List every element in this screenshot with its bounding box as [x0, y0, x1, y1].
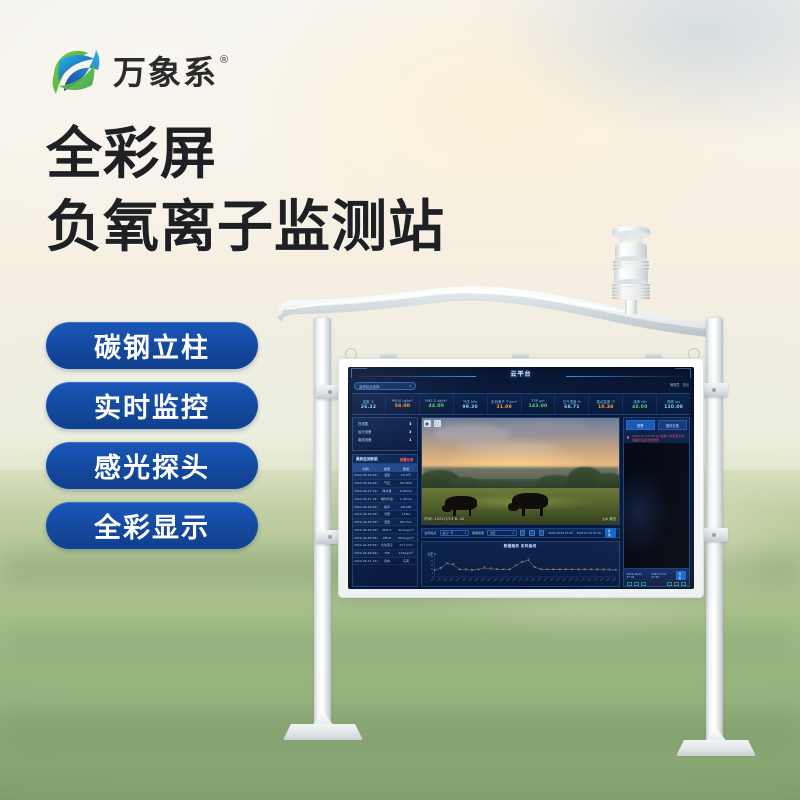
table-row[interactable]: 2022-04-28 08:03:18PM1058.0ug/m³ — [353, 534, 417, 542]
display-cabinet: 云平台 监测站点选择 ▾ 管理员 退出 温度 ℃ 26.32 — [338, 358, 704, 598]
station-select-value: 监测站点选择 — [359, 384, 379, 389]
stat-label: 在线数 — [358, 421, 368, 426]
table-cell: 2022-04-28 08:03:42 — [353, 542, 378, 549]
video-cow-leg — [540, 508, 543, 515]
control-icon-group: 2022-08-02 07:30 2022-07-01 07:30 查询 — [520, 528, 616, 538]
svg-text:9.0: 9.0 — [458, 568, 461, 570]
chart-controls[interactable]: 监测站点 站点一号 ▾ 数据类型 温度 ▾ — [421, 528, 620, 538]
svg-text:12:00: 12:00 — [505, 578, 510, 581]
svg-text:21:00: 21:00 — [562, 578, 567, 581]
chart-title: 数据趋势 实时曲线 — [422, 544, 619, 549]
svg-text:18:00: 18:00 — [543, 578, 548, 581]
log-time-end: 2022-07-01 07:30 — [651, 573, 673, 579]
fullscreen-icon[interactable]: ⛶ — [434, 420, 441, 427]
column-header-time: 时间 — [353, 464, 378, 472]
svg-text:15.2: 15.2 — [451, 563, 454, 565]
table-row[interactable]: 2022-04-28 08:03:18湿度68.71% — [353, 519, 417, 527]
carbon-steel-post-left — [314, 318, 331, 726]
svg-text:00:00: 00:00 — [430, 578, 435, 581]
chevron-down-icon: ▾ — [465, 532, 466, 535]
dashboard-screen[interactable]: 云平台 监测站点选择 ▾ 管理员 退出 温度 ℃ 26.32 — [348, 367, 694, 589]
metric-value: 10.38 — [598, 405, 614, 410]
metric-label: 风照 lux — [667, 399, 680, 404]
table-cell: 2022-04-28 08:03:18 — [353, 550, 378, 557]
svg-text:08:00: 08:00 — [480, 578, 485, 581]
time-range-start: 2022-08-02 07:30 — [548, 531, 572, 535]
column-header-type: 类型 — [378, 464, 395, 472]
table-row[interactable]: 2022-04-27 18:32:15瞬时风速1.05m/s — [353, 495, 417, 503]
tab-alarm[interactable]: 报警 — [626, 420, 655, 430]
feature-badge-full-color-display[interactable]: 全彩显示 — [46, 502, 258, 549]
metric-humidity: 空气湿度 % 68.71 — [555, 394, 589, 414]
table-cell: 湿度 — [378, 519, 395, 526]
table-title: 最新监测数据 — [356, 457, 378, 462]
table-cell: 143ug/m³ — [396, 550, 417, 557]
svg-text:07:00: 07:00 — [474, 578, 479, 581]
metric-value: 99.30 — [462, 405, 478, 410]
table-cell: 2022-04-28 08:03:18 — [353, 480, 378, 487]
svg-text:23:00: 23:00 — [574, 578, 579, 581]
table-row[interactable]: 2022-04-28 08:03:18温度23.8℃ — [353, 472, 417, 480]
svg-text:0: 0 — [431, 577, 432, 579]
svg-text:17:00: 17:00 — [537, 578, 542, 581]
svg-text:9.6: 9.6 — [495, 568, 498, 570]
refresh-icon[interactable] — [529, 530, 535, 536]
table-cell: 风向 — [378, 558, 395, 565]
stat-row: 运行设备 2 — [358, 429, 412, 434]
station-dropdown[interactable]: 站点一号 ▾ — [440, 530, 470, 537]
video-cow-leg — [522, 508, 525, 515]
logout-button[interactable]: 退出 — [683, 382, 689, 387]
svg-text:09:00: 09:00 — [487, 578, 492, 581]
stat-value: 1 — [409, 438, 411, 442]
table-cell: 2022-04-27 18:32:15 — [353, 495, 378, 502]
svg-text:8.8: 8.8 — [596, 568, 599, 570]
table-cell: 23.8℃ — [396, 472, 417, 479]
svg-text:10.0: 10.0 — [489, 567, 492, 569]
metric-value: 143.00 — [529, 404, 548, 409]
table-cell: 温度 — [378, 472, 395, 479]
svg-text:8.8: 8.8 — [464, 568, 467, 570]
svg-text:9.3: 9.3 — [552, 568, 555, 570]
svg-text:9.0: 9.0 — [577, 568, 580, 570]
table-cell: 99.3kPa — [396, 480, 417, 487]
svg-text:02:30: 02:30 — [593, 578, 598, 581]
brand-name: 万象系 — [113, 56, 218, 89]
svg-text:04:30: 04:30 — [606, 578, 611, 581]
globe-swoosh-logo-icon — [48, 44, 104, 100]
svg-text:00:30: 00:30 — [581, 578, 586, 581]
svg-text:02:00: 02:00 — [443, 578, 448, 581]
video-cloud — [457, 441, 560, 454]
svg-text:8.9: 8.9 — [583, 568, 586, 570]
svg-text:16.5: 16.5 — [445, 562, 448, 564]
latest-data-table[interactable]: 最新监测数据 报警记录 时间 类型 数值 2022-04-28 08:03:18… — [352, 454, 418, 587]
dashboard-body: 在线数 3 运行设备 2 离线设备 1 — [352, 417, 690, 587]
chevron-down-icon: ▾ — [409, 384, 411, 388]
alarm-log-entry: 2022-07-13 06:42 设备A 负氧离子浓度超出设定阈值告警 — [624, 432, 689, 443]
metric-label: 噪声 db — [634, 399, 646, 404]
table-cell: 2022-04-28 08:03:18 — [353, 526, 378, 533]
metric-label: 温度 ℃ — [363, 399, 375, 404]
svg-text:25: 25 — [430, 557, 432, 559]
svg-text:05:00: 05:00 — [462, 578, 467, 581]
datatype-dropdown[interactable]: 温度 ▾ — [487, 530, 517, 537]
metric-label: 负氧离子 个/cm³ — [491, 399, 517, 404]
calendar-icon[interactable] — [520, 530, 526, 536]
svg-text:15:00: 15:00 — [524, 578, 529, 581]
table-cell: 2022-04-28 08:06:18 — [353, 511, 378, 518]
stat-row: 离线设备 1 — [358, 437, 412, 442]
headline: 全彩屏 负氧离子监测站 — [46, 124, 445, 259]
metric-pm10: PM10 ug/m³ 58.00 — [386, 394, 420, 414]
stat-label: 运行设备 — [358, 429, 372, 434]
video-timestamp: 时间: 2022/7/13 6: 42 — [425, 516, 465, 521]
svg-text:9.4: 9.4 — [546, 568, 549, 570]
svg-text:11.2: 11.2 — [482, 566, 485, 568]
svg-text:14:00: 14:00 — [518, 578, 523, 581]
metric-dew-point: 露点温度 ℃ 10.38 — [589, 394, 623, 414]
metric-label: TSP μm — [531, 399, 544, 403]
metric-pressure: 气压 kPa 99.30 — [454, 394, 488, 414]
svg-text:10:00: 10:00 — [493, 578, 498, 581]
left-column: 在线数 3 运行设备 2 离线设备 1 — [352, 417, 418, 587]
base-plate-right — [676, 740, 756, 756]
metric-value: 68.71 — [564, 405, 580, 410]
snapshot-icon[interactable]: ▣ — [424, 420, 431, 427]
video-cow-leg — [453, 509, 456, 515]
headline-line-2: 负氧离子监测站 — [46, 197, 445, 260]
trend-chart-panel: 数据趋势 实时曲线 温度 ℃ 0510152025308.200:0011.00… — [421, 541, 620, 587]
table-cell: PM10 — [378, 534, 395, 541]
metric-strip: 温度 ℃ 26.32 PM10 ug/m³ 58.00 PM2.5 ug/m³ … — [352, 393, 690, 415]
control-label-datatype: 数据类型 — [472, 531, 484, 535]
log-viewport — [624, 443, 689, 568]
alarm-records-link[interactable]: 报警记录 — [400, 457, 414, 462]
video-cow-leg — [469, 509, 472, 515]
table-cell: 44.0ug/m³ — [396, 526, 417, 533]
post-clamp — [700, 528, 728, 542]
metric-value: 44.00 — [429, 404, 445, 409]
metric-temperature: 温度 ℃ 26.32 — [352, 394, 386, 414]
indicator-group-right — [667, 582, 686, 586]
svg-text:11.0: 11.0 — [439, 567, 442, 569]
table-cell: 2022-04-27 19:40:08 — [353, 488, 378, 495]
metric-noise: 噪声 db 48.00 — [623, 394, 657, 414]
table-cell: 2022-04-11 15:02:28 — [353, 558, 378, 565]
table-row[interactable]: 2022-04-27 19:40:08降水量0.00mm — [353, 488, 417, 496]
chevron-down-icon: ▾ — [512, 532, 513, 535]
trend-line-chart: 0510152025308.200:0011.001:0016.502:0015… — [422, 551, 619, 586]
svg-text:9.0: 9.0 — [477, 568, 480, 570]
table-cell: 0.00mm — [396, 488, 417, 495]
stat-label: 离线设备 — [358, 437, 372, 442]
column-header-value: 数值 — [396, 464, 417, 472]
registered-mark: ® — [220, 54, 228, 66]
table-row[interactable]: 2022-04-28 08:03:18TSP143ug/m³ — [353, 550, 417, 558]
svg-text:5: 5 — [431, 573, 432, 575]
metric-label: 气压 kPa — [463, 399, 477, 404]
table-row[interactable]: 2022-04-28 08:03:18PM2.544.0ug/m³ — [353, 526, 417, 534]
video-cloud — [500, 420, 589, 435]
table-row[interactable]: 2022-04-28 08:03:01噪声48.0dB — [353, 503, 417, 511]
alarm-log-panel: 报警 操作记录 2022-07-13 06:42 设备A 负氧离子浓度超出设定阈… — [623, 417, 690, 587]
svg-text:06:00: 06:00 — [468, 578, 473, 581]
table-body: 2022-04-28 08:03:18温度23.8℃2022-04-28 08:… — [353, 472, 417, 565]
svg-text:13:00: 13:00 — [512, 578, 517, 581]
metric-tsp: TSP μm 143.00 — [522, 394, 556, 414]
table-row[interactable]: 2022-04-28 08:03:18气压99.3kPa — [353, 480, 417, 488]
svg-text:8.8: 8.8 — [602, 568, 605, 570]
svg-text:18.5: 18.5 — [520, 560, 523, 562]
table-cell: PM2.5 — [378, 526, 395, 533]
table-cell: 光照 — [378, 511, 395, 518]
center-column: ▣ ⛶ 时间: 2022/7/13 6: 42 山水 美田 监测站点 站点一号 — [421, 417, 620, 587]
station-select[interactable]: 监测站点选择 ▾ — [354, 382, 416, 390]
table-cell: TSP — [378, 550, 395, 557]
svg-text:03:00: 03:00 — [449, 578, 454, 581]
right-column: 报警 操作记录 2022-07-13 06:42 设备A 负氧离子浓度超出设定阈… — [623, 417, 690, 587]
svg-text:9.1: 9.1 — [564, 568, 567, 570]
station-dropdown-value: 站点一号 — [443, 531, 454, 535]
alarm-log-text: 2022-07-13 06:42 设备A 负氧离子浓度超出设定阈值告警 — [632, 434, 686, 442]
table-cell: 48.0dB — [396, 503, 417, 510]
log-footer-times: 2022-08-02 07:30 2022-07-01 07:30 导出 — [627, 571, 686, 580]
table-cell: 东南 — [396, 558, 417, 565]
dashboard-title: 云平台 — [348, 369, 694, 378]
svg-text:8.6: 8.6 — [614, 568, 617, 570]
time-range-end: 2022-07-01 07:30 — [577, 531, 601, 535]
dashboard-header: 云平台 — [348, 367, 694, 382]
table-cell: 31个/cm³ — [396, 542, 417, 549]
svg-text:01:30: 01:30 — [587, 578, 592, 581]
table-cell: 2022-04-28 08:03:18 — [353, 519, 378, 526]
feature-badge-carbon-steel-post[interactable]: 碳钢立柱 — [46, 322, 258, 369]
svg-text:01:00: 01:00 — [437, 578, 442, 581]
metric-value: 31.00 — [496, 405, 512, 410]
headline-line-1: 全彩屏 — [46, 124, 445, 187]
svg-text:15: 15 — [430, 565, 432, 567]
brand-logo: 万象系 ® — [48, 44, 228, 100]
svg-text:03:30: 03:30 — [599, 578, 604, 581]
device-stats-list: 在线数 3 运行设备 2 离线设备 1 — [353, 418, 417, 445]
stat-value: 2 — [409, 430, 411, 434]
svg-text:19:00: 19:00 — [549, 578, 554, 581]
ultrasonic-weather-sensor-icon — [598, 222, 664, 314]
table-row[interactable]: 2022-04-28 08:03:42负氧离子31个/cm³ — [353, 542, 417, 550]
svg-text:11:00: 11:00 — [499, 578, 504, 581]
svg-text:14.0: 14.0 — [514, 564, 517, 566]
svg-text:22:00: 22:00 — [568, 578, 573, 581]
svg-text:30: 30 — [430, 553, 432, 555]
metric-label: PM2.5 ug/m³ — [425, 399, 447, 403]
table-cell: 68.71% — [396, 519, 417, 526]
metric-label: PM10 ug/m³ — [392, 399, 413, 403]
log-tabs[interactable]: 报警 操作记录 — [624, 418, 689, 432]
table-cell: 110lx — [396, 511, 417, 518]
table-cell: 气压 — [378, 480, 395, 487]
table-title-bar: 最新监测数据 报警记录 — [353, 455, 417, 464]
datatype-dropdown-value: 温度 — [490, 531, 495, 535]
svg-text:9.0: 9.0 — [571, 568, 574, 570]
log-footer-indicators — [627, 582, 686, 586]
video-cow-head — [508, 503, 519, 511]
svg-text:16:00: 16:00 — [530, 578, 535, 581]
table-cell: 2022-04-28 08:03:18 — [353, 534, 378, 541]
tab-operation-log[interactable]: 操作记录 — [658, 420, 687, 430]
control-label-station: 监测站点 — [425, 531, 437, 535]
metric-value: 48.00 — [632, 405, 648, 410]
svg-text:9.4: 9.4 — [502, 568, 505, 570]
indicator-group-left — [627, 582, 646, 586]
table-header: 时间 类型 数值 — [353, 464, 417, 472]
banner-stage: 万象系 ® 全彩屏 负氧离子监测站 碳钢立柱 实时监控 感光探头 全彩显示 — [0, 0, 800, 800]
log-glow — [624, 468, 670, 556]
stat-value: 3 — [409, 422, 411, 426]
table-cell: 负氧离子 — [378, 542, 395, 549]
table-row[interactable]: 2022-04-28 08:06:18光照110lx — [353, 511, 417, 519]
svg-text:21.0: 21.0 — [526, 558, 529, 560]
query-button[interactable]: 查询 — [605, 528, 616, 538]
metric-value: 26.32 — [361, 405, 377, 410]
svg-text:20: 20 — [430, 561, 432, 563]
svg-text:20:00: 20:00 — [556, 578, 561, 581]
export-button[interactable]: 导出 — [676, 571, 686, 580]
device-stats-panel: 在线数 3 运行设备 2 离线设备 1 — [352, 417, 418, 451]
metric-label: 空气湿度 % — [563, 399, 581, 404]
user-name: 管理员 — [670, 382, 680, 387]
table-cell: 瞬时风速 — [378, 495, 395, 502]
table-cell: 2022-04-28 08:03:01 — [353, 503, 378, 510]
svg-text:04:00: 04:00 — [455, 578, 460, 581]
table-cell: 2022-04-28 08:03:18 — [353, 472, 378, 479]
post-clamp — [700, 383, 728, 397]
metric-value: 58.00 — [395, 404, 411, 409]
video-watermark: 山水 美田 — [602, 516, 616, 521]
base-plate-left — [283, 724, 363, 740]
table-cell: 噪声 — [378, 503, 395, 510]
table-cell: 降水量 — [378, 488, 395, 495]
video-toolbar[interactable]: ▣ ⛶ — [424, 420, 441, 427]
svg-text:8.9: 8.9 — [589, 568, 592, 570]
settings-icon[interactable] — [539, 530, 545, 536]
svg-text:9.5: 9.5 — [539, 568, 542, 570]
svg-text:9.2: 9.2 — [508, 568, 511, 570]
video-cow-head — [442, 505, 452, 512]
feature-badge-light-sensor-probe[interactable]: 感光探头 — [46, 442, 258, 489]
log-time-start: 2022-08-02 07:30 — [627, 573, 649, 579]
svg-text:9.2: 9.2 — [558, 568, 561, 570]
alert-dot-icon — [627, 436, 630, 439]
svg-text:05:30: 05:30 — [612, 578, 617, 581]
metric-pm25: PM2.5 ug/m³ 44.00 — [420, 394, 454, 414]
metric-value: 110.00 — [664, 405, 683, 410]
video-frame: ▣ ⛶ 时间: 2022/7/13 6: 42 山水 美田 — [422, 418, 619, 524]
table-row[interactable]: 2022-04-11 15:02:28风向东南 — [353, 558, 417, 566]
feature-badge-realtime-monitoring[interactable]: 实时监控 — [46, 382, 258, 429]
metric-label: 露点温度 ℃ — [597, 399, 616, 404]
metric-negative-ion: 负氧离子 个/cm³ 31.00 — [488, 394, 522, 414]
metric-illuminance: 风照 lux 110.00 — [657, 394, 690, 414]
table-cell: 1.05m/s — [396, 495, 417, 502]
feature-badge-list: 碳钢立柱 实时监控 感光探头 全彩显示 — [46, 322, 258, 549]
svg-text:8.6: 8.6 — [470, 568, 473, 570]
stat-row: 在线数 3 — [358, 421, 412, 426]
table-cell: 58.0ug/m³ — [396, 534, 417, 541]
svg-text:8.7: 8.7 — [608, 568, 611, 570]
user-area[interactable]: 管理员 退出 — [670, 382, 689, 387]
live-video-feed[interactable]: ▣ ⛶ 时间: 2022/7/13 6: 42 山水 美田 — [421, 417, 620, 525]
log-footer: 2022-08-02 07:30 2022-07-01 07:30 导出 — [624, 568, 689, 586]
